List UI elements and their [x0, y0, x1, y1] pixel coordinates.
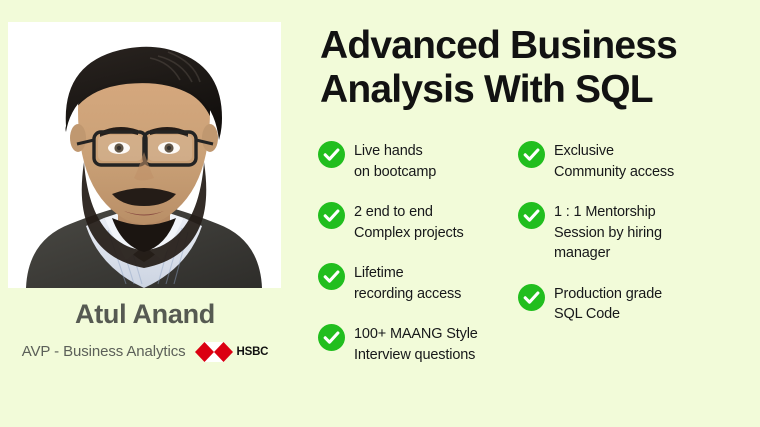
course-title-line-2: Analysis With SQL	[320, 68, 740, 112]
feature-item: 100+ MAANG Style Interview questions	[318, 323, 518, 365]
feature-text-line: Production grade	[554, 284, 662, 305]
features-column-right: Exclusive Community access 1 : 1 Mentors…	[518, 140, 758, 385]
check-circle-icon	[318, 141, 345, 168]
check-circle-icon	[518, 284, 545, 311]
feature-item: Lifetime recording access	[318, 262, 518, 304]
presenter-portrait-photo	[8, 22, 281, 288]
feature-text-line: manager	[554, 243, 662, 264]
feature-item: 1 : 1 Mentorship Session by hiring manag…	[518, 201, 758, 264]
feature-text: Production grade SQL Code	[554, 283, 662, 325]
feature-text-line: recording access	[354, 284, 461, 305]
feature-text: Lifetime recording access	[354, 262, 461, 304]
feature-text-line: SQL Code	[554, 304, 662, 325]
feature-item: 2 end to end Complex projects	[318, 201, 518, 243]
feature-text: Live hands on bootcamp	[354, 140, 436, 182]
feature-text-line: Exclusive	[554, 141, 674, 162]
presenter-name: Atul Anand	[0, 300, 290, 330]
feature-item: Production grade SQL Code	[518, 283, 758, 325]
hsbc-logo-icon	[195, 342, 233, 362]
feature-item: Live hands on bootcamp	[318, 140, 518, 182]
feature-text: Exclusive Community access	[554, 140, 674, 182]
hsbc-wordmark: HSBC	[237, 346, 269, 358]
feature-text-line: 2 end to end	[354, 202, 464, 223]
feature-text-line: 1 : 1 Mentorship	[554, 202, 662, 223]
course-title-line-1: Advanced Business	[320, 24, 740, 68]
check-circle-icon	[518, 202, 545, 229]
feature-text: 1 : 1 Mentorship Session by hiring manag…	[554, 201, 662, 264]
presenter-photo	[8, 22, 281, 288]
check-circle-icon	[518, 141, 545, 168]
presenter-role-row: AVP - Business Analytics HSBC	[0, 342, 290, 362]
feature-text: 100+ MAANG Style Interview questions	[354, 323, 478, 365]
features-column-left: Live hands on bootcamp 2 end to end Comp…	[318, 140, 518, 385]
features-list: Live hands on bootcamp 2 end to end Comp…	[318, 140, 758, 385]
feature-text-line: Lifetime	[354, 263, 461, 284]
course-title: Advanced Business Analysis With SQL	[320, 24, 740, 111]
presenter-info: Atul Anand AVP - Business Analytics HSBC	[0, 300, 290, 362]
feature-text-line: 100+ MAANG Style	[354, 324, 478, 345]
presenter-role: AVP - Business Analytics	[22, 343, 186, 360]
check-circle-icon	[318, 263, 345, 290]
feature-text-line: Community access	[554, 162, 674, 183]
feature-text-line: Live hands	[354, 141, 436, 162]
feature-item: Exclusive Community access	[518, 140, 758, 182]
feature-text-line: Session by hiring	[554, 223, 662, 244]
feature-text-line: on bootcamp	[354, 162, 436, 183]
hsbc-logo: HSBC	[195, 342, 269, 362]
feature-text-line: Complex projects	[354, 223, 464, 244]
check-circle-icon	[318, 324, 345, 351]
check-circle-icon	[318, 202, 345, 229]
feature-text-line: Interview questions	[354, 345, 478, 366]
feature-text: 2 end to end Complex projects	[354, 201, 464, 243]
